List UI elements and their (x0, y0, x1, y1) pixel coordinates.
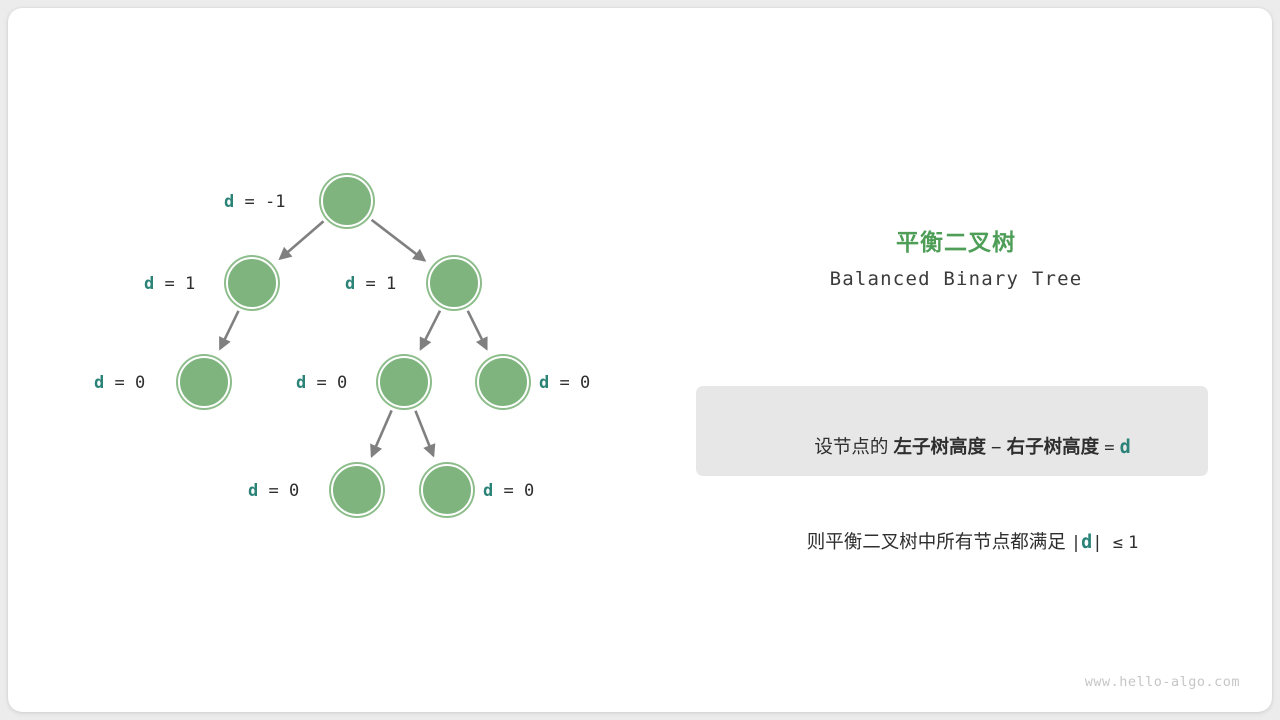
label-variable: d (248, 481, 258, 501)
tree-node[interactable] (421, 464, 473, 516)
tree-node[interactable] (477, 356, 529, 408)
label-variable: d (224, 192, 234, 212)
label-equals-value: = 0 (104, 373, 145, 393)
definition-prefix-2: 则平衡二叉树中所有节点都满足 (807, 531, 1066, 552)
equals-operator: = (1104, 438, 1114, 458)
diagram-card: d = -1d = 1d = 1d = 0d = 0d = 0d = 0d = … (8, 8, 1272, 712)
node-balance-label: d = 0 (94, 373, 145, 393)
term-left-subtree-height: 左子树高度 (894, 436, 987, 457)
label-equals-value: = 0 (306, 373, 347, 393)
label-equals-value: = 1 (355, 274, 396, 294)
minus-operator: − (991, 438, 1001, 458)
tree-node[interactable] (428, 257, 480, 309)
node-balance-label: d = 1 (345, 274, 396, 294)
node-balance-label: d = 1 (144, 274, 195, 294)
tree-edge (220, 311, 238, 349)
label-variable: d (296, 373, 306, 393)
tree-node[interactable] (226, 257, 278, 309)
diagram-stage: d = -1d = 1d = 1d = 0d = 0d = 0d = 0d = … (8, 8, 1272, 712)
symbol-d-2: d (1081, 532, 1092, 553)
tree-edge (372, 220, 425, 261)
label-variable: d (539, 373, 549, 393)
node-balance-label: d = -1 (224, 192, 285, 212)
label-variable: d (144, 274, 154, 294)
tree-node[interactable] (321, 175, 373, 227)
label-variable: d (94, 373, 104, 393)
tree-edge (468, 311, 487, 349)
symbol-d: d (1120, 437, 1131, 458)
label-equals-value: = -1 (234, 192, 285, 212)
label-equals-value: = 0 (549, 373, 590, 393)
label-variable: d (345, 274, 355, 294)
tree-node[interactable] (378, 356, 430, 408)
page-title: 平衡二叉树 (696, 223, 1216, 257)
label-equals-value: = 0 (493, 481, 534, 501)
watermark: www.hello-algo.com (1085, 674, 1240, 690)
info-panel: 平衡二叉树 Balanced Binary Tree (696, 223, 1216, 290)
tree-edge (280, 221, 324, 259)
definition-line-1: 设节点的 左子树高度 − 右子树高度 = d (696, 400, 1208, 495)
tree-edge (372, 410, 392, 456)
definition-prefix: 设节点的 (814, 436, 888, 457)
term-right-subtree-height: 右子树高度 (1007, 436, 1100, 457)
node-balance-label: d = 0 (483, 481, 534, 501)
abs-bar-open: | (1071, 533, 1081, 553)
tree-edge (421, 311, 440, 349)
node-balance-label: d = 0 (539, 373, 590, 393)
bound-value: 1 (1128, 533, 1138, 553)
less-equal-operator: ≤ (1113, 533, 1123, 553)
page-subtitle: Balanced Binary Tree (696, 268, 1216, 290)
abs-bar-close: | (1092, 533, 1102, 553)
tree-node[interactable] (331, 464, 383, 516)
label-variable: d (483, 481, 493, 501)
node-balance-label: d = 0 (296, 373, 347, 393)
tree-node[interactable] (178, 356, 230, 408)
tree-edge (415, 411, 433, 456)
node-balance-label: d = 0 (248, 481, 299, 501)
definition-box: 设节点的 左子树高度 − 右子树高度 = d 则平衡二叉树中所有节点都满足 |d… (696, 386, 1208, 476)
definition-line-2: 则平衡二叉树中所有节点都满足 |d| ≤ 1 (696, 495, 1208, 590)
label-equals-value: = 0 (258, 481, 299, 501)
label-equals-value: = 1 (154, 274, 195, 294)
